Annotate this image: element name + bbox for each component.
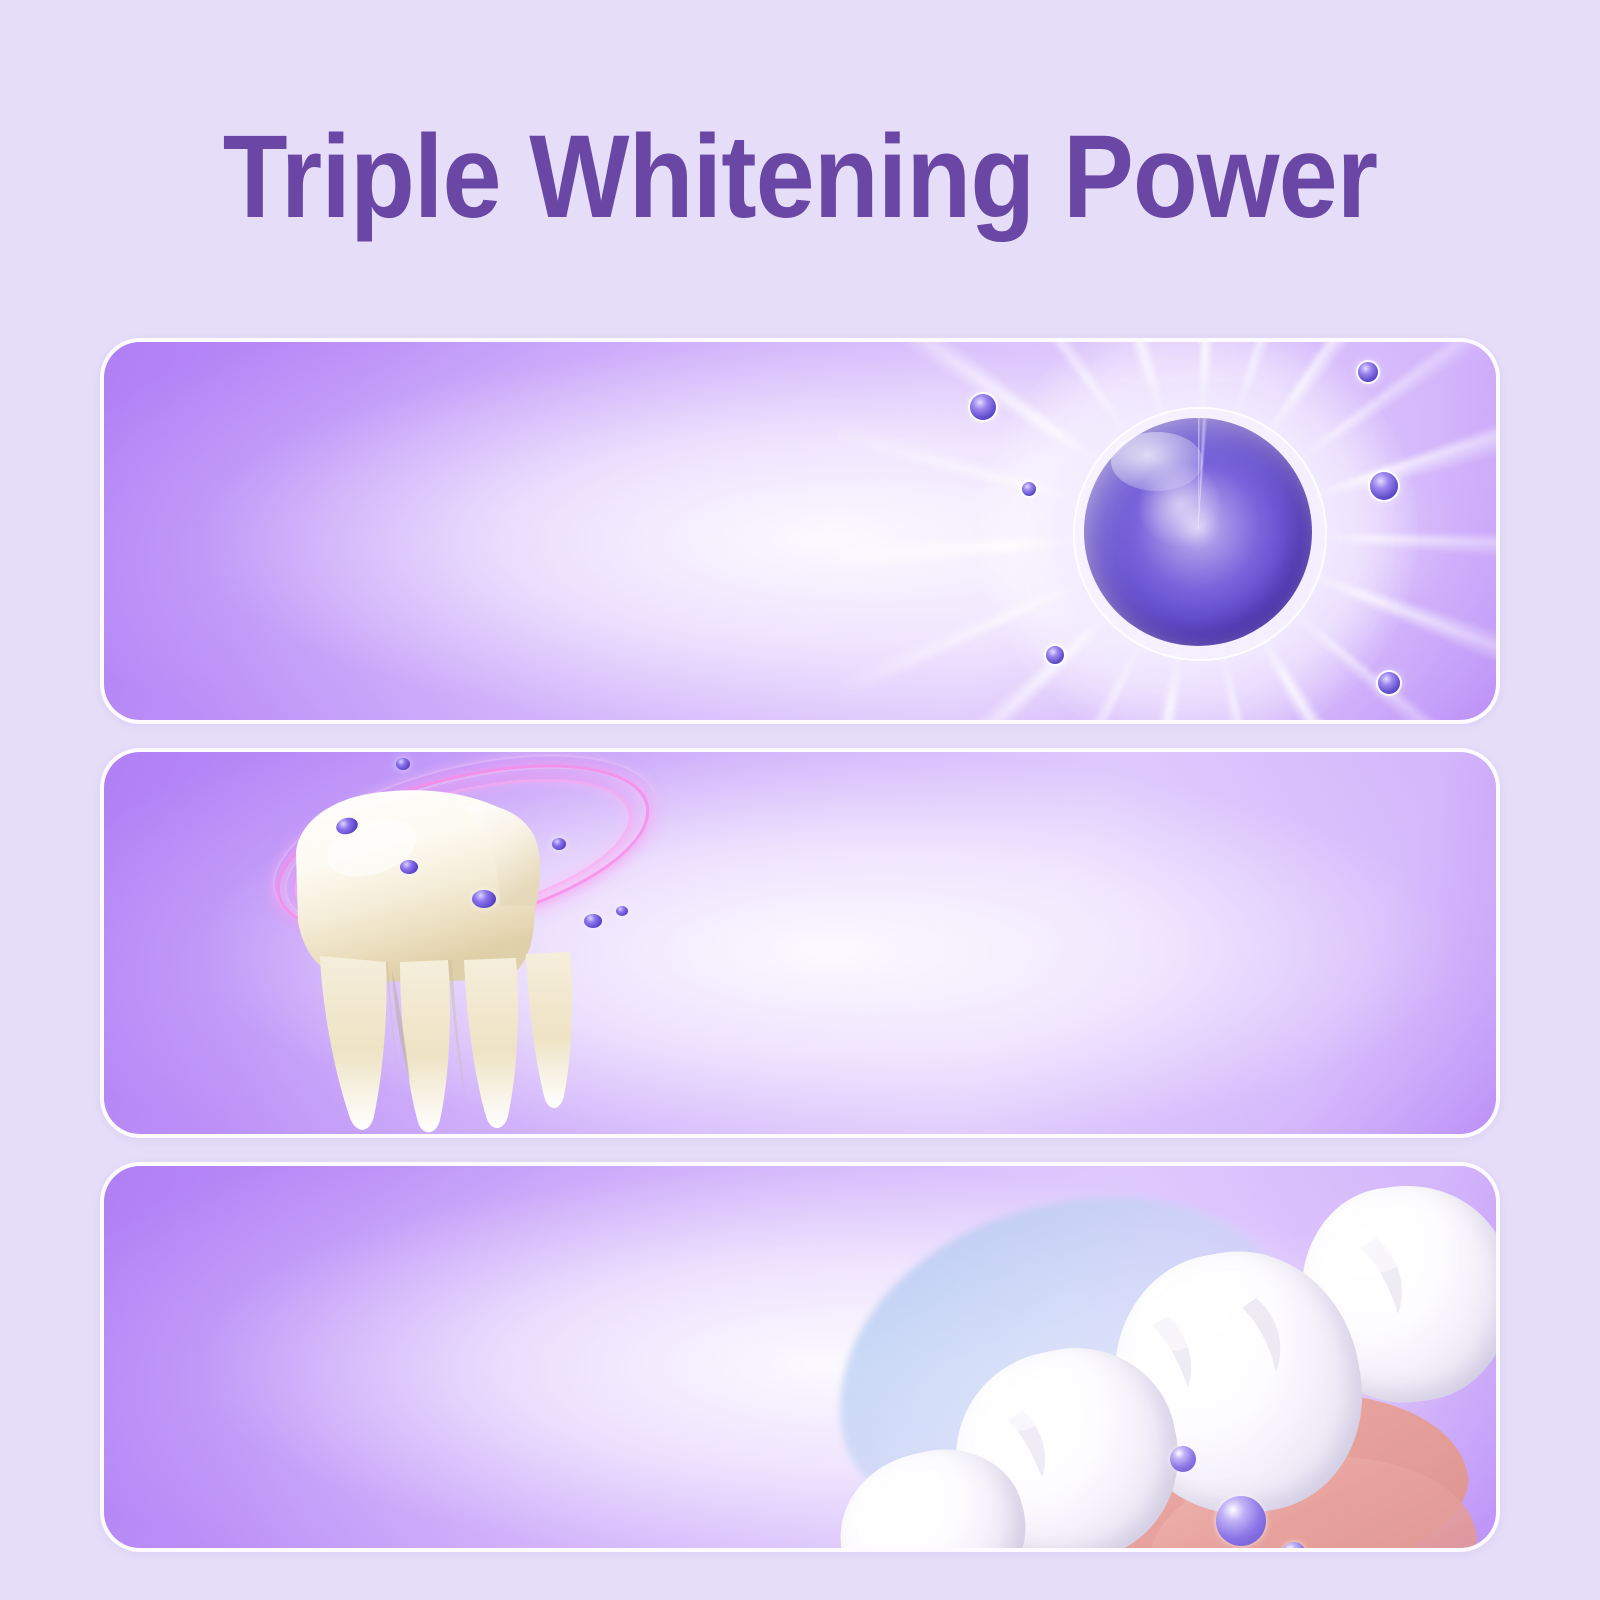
feature-card-3: 3 Color correction Neutralizes extrinsic…	[100, 1162, 1500, 1552]
bead-outer-ring	[1073, 407, 1327, 661]
gum-tissue-lower	[1139, 1441, 1484, 1552]
molar-2	[936, 1329, 1197, 1552]
molar-4	[1288, 1172, 1500, 1415]
satellite-bead-2	[1022, 482, 1036, 496]
orbit-bead-1	[334, 815, 360, 836]
orbit-bead-5	[584, 914, 602, 928]
orbit-ring-secondary	[280, 750, 646, 956]
orbit-ring-primary	[260, 748, 666, 968]
satellite-bead-6	[1378, 672, 1400, 694]
molar-3	[1095, 1233, 1381, 1533]
glowing-whitening-bead-icon	[918, 342, 1478, 722]
starburst-rays-icon	[838, 338, 1500, 724]
feature-card-2: Stain removal 2 Foam turns blue while br…	[100, 748, 1500, 1138]
molar-1	[823, 1432, 1042, 1552]
blue-whitening-wash	[805, 1162, 1333, 1552]
whitening-droplet-1	[1170, 1446, 1196, 1472]
bead-halo-glow	[978, 338, 1418, 724]
orbit-bead-7	[396, 758, 410, 770]
satellite-bead-3	[1358, 362, 1378, 382]
molar-tooth-shape	[250, 756, 720, 1138]
tooth-with-orbiting-beads-icon	[250, 756, 720, 1138]
orbit-bead-6	[616, 906, 628, 916]
whitening-bead-sphere	[1084, 418, 1312, 646]
molar-cusp-shading	[816, 1166, 1496, 1552]
orbit-bead-2	[400, 860, 418, 874]
whitening-droplet-2	[1216, 1496, 1266, 1546]
satellite-bead-5	[1046, 646, 1064, 664]
orbit-ring-faint-1	[255, 748, 675, 967]
satellite-bead-4	[1370, 472, 1398, 500]
orbit-bead-4	[552, 838, 566, 850]
whitened-molars-icon	[816, 1166, 1496, 1552]
gum-tissue	[1023, 1359, 1482, 1552]
orbit-bead-3	[472, 890, 496, 908]
satellite-bead-1	[970, 394, 996, 420]
feature-card-1: 1 Instantly burst High-concentration whi…	[100, 338, 1500, 724]
whitening-droplet-3	[1282, 1542, 1306, 1552]
orbit-ring-faint-2	[268, 748, 668, 965]
page-title: Triple Whitening Power	[80, 118, 1520, 236]
